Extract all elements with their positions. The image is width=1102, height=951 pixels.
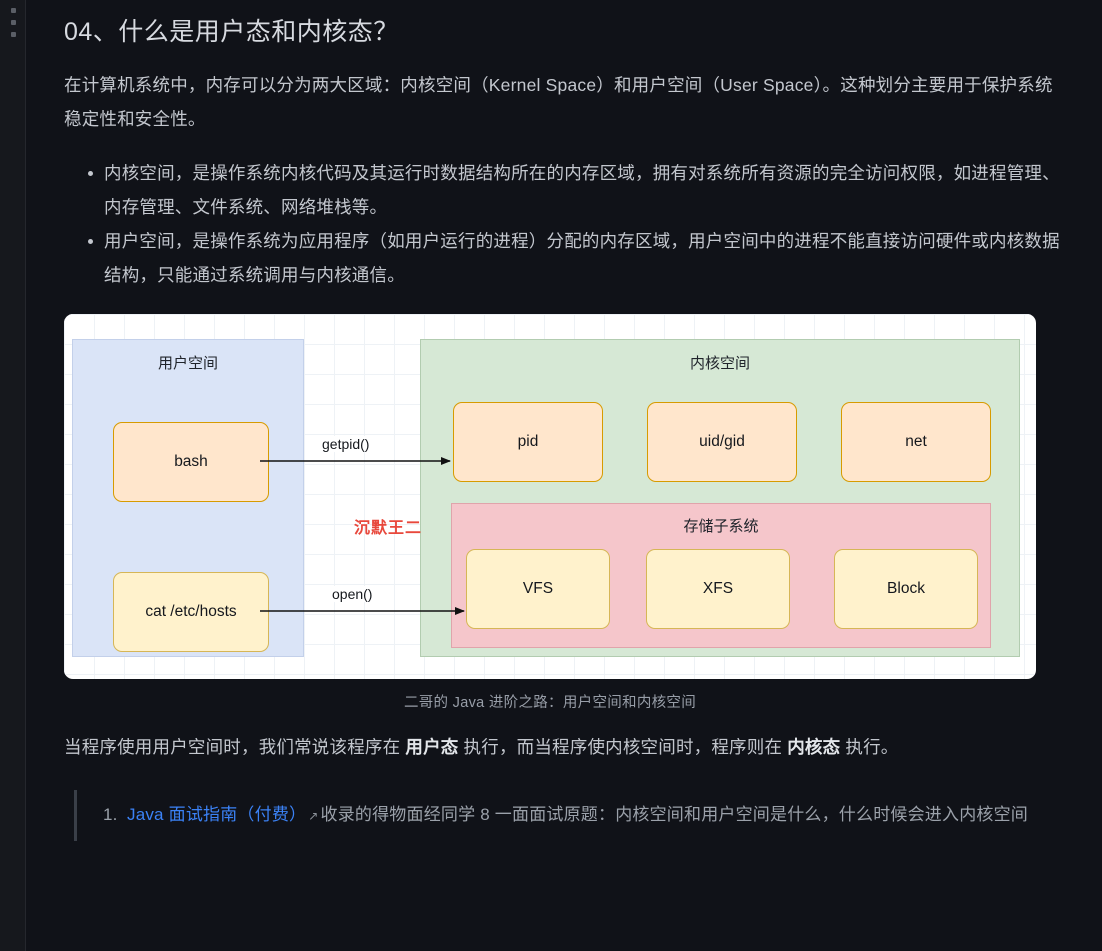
watermark-text: 沉默王二 (354, 514, 422, 538)
node-block: Block (834, 549, 978, 629)
af-p1: 当程序使用用户空间时，我们常说该程序在 (64, 737, 405, 757)
footnote-list: Java 面试指南（付费）↗收录的得物面经同学 8 一面面试原题：内核空间和用户… (103, 798, 1062, 833)
storage-subsystem-region: 存储子系统 VFS XFS Block (451, 503, 991, 648)
intro-paragraph: 在计算机系统中，内存可以分为两大区域：内核空间（Kernel Space）和用户… (64, 68, 1062, 136)
node-bash: bash (113, 422, 269, 502)
diagram: 用户空间 bash cat /etc/hosts 内核空间 pid (64, 314, 1036, 679)
list-item: Java 面试指南（付费）↗收录的得物面经同学 8 一面面试原题：内核空间和用户… (103, 798, 1062, 833)
kebab-menu-icon[interactable] (9, 8, 17, 44)
arrow-open-label: open() (329, 586, 375, 602)
node-uidgid-label: uid/gid (699, 433, 745, 451)
node-bash-label: bash (174, 453, 208, 471)
page-title: 04、什么是用户态和内核态？ (64, 0, 1062, 50)
af-p2: 执行，而当程序使内核空间时，程序则在 (458, 737, 787, 757)
node-uidgid: uid/gid (647, 402, 797, 482)
footnote-blockquote: Java 面试指南（付费）↗收录的得物面经同学 8 一面面试原题：内核空间和用户… (74, 790, 1062, 841)
page-root: 04、什么是用户态和内核态？ 在计算机系统中，内存可以分为两大区域：内核空间（K… (0, 0, 1102, 951)
figure-user-kernel-space: 用户空间 bash cat /etc/hosts 内核空间 pid (64, 314, 1062, 712)
storage-subsystem-label: 存储子系统 (683, 515, 758, 536)
definition-list: 内核空间，是操作系统内核代码及其运行时数据结构所在的内存区域，拥有对系统所有资源… (64, 156, 1062, 292)
arrow-getpid-label: getpid() (319, 436, 372, 452)
node-xfs-label: XFS (703, 580, 733, 598)
kernel-space-region: 内核空间 pid uid/gid net 存储子系统 (420, 339, 1020, 657)
after-figure-paragraph: 当程序使用用户空间时，我们常说该程序在 用户态 执行，而当程序使内核空间时，程序… (64, 730, 1062, 764)
node-vfs: VFS (466, 549, 610, 629)
node-block-label: Block (887, 580, 925, 598)
node-pid-label: pid (518, 433, 539, 451)
figure-image: 用户空间 bash cat /etc/hosts 内核空间 pid (64, 314, 1036, 679)
user-space-region: 用户空间 bash cat /etc/hosts (72, 339, 304, 657)
af-b2: 内核态 (787, 737, 840, 757)
kebab-dot-1 (11, 8, 16, 13)
kebab-dot-2 (11, 20, 16, 25)
footnote-link[interactable]: Java 面试指南（付费） (127, 805, 306, 824)
left-rail (0, 0, 26, 951)
kebab-dot-3 (11, 32, 16, 37)
node-pid: pid (453, 402, 603, 482)
node-cat: cat /etc/hosts (113, 572, 269, 652)
node-cat-label: cat /etc/hosts (145, 603, 236, 621)
user-space-label: 用户空间 (158, 352, 218, 373)
node-vfs-label: VFS (523, 580, 553, 598)
kernel-space-label: 内核空间 (690, 352, 750, 373)
af-p3: 执行。 (840, 737, 898, 757)
footnote-text: 收录的得物面经同学 8 一面面试原题：内核空间和用户空间是什么，什么时候会进入内… (321, 805, 1029, 824)
list-item: 用户空间，是操作系统为应用程序（如用户运行的进程）分配的内存区域，用户空间中的进… (88, 224, 1062, 292)
node-xfs: XFS (646, 549, 790, 629)
external-link-icon: ↗ (306, 809, 320, 823)
article-content: 04、什么是用户态和内核态？ 在计算机系统中，内存可以分为两大区域：内核空间（K… (26, 0, 1102, 951)
af-b1: 用户态 (405, 737, 458, 757)
node-net: net (841, 402, 991, 482)
list-item: 内核空间，是操作系统内核代码及其运行时数据结构所在的内存区域，拥有对系统所有资源… (88, 156, 1062, 224)
node-net-label: net (905, 433, 927, 451)
figure-caption: 二哥的 Java 进阶之路：用户空间和内核空间 (64, 691, 1036, 712)
